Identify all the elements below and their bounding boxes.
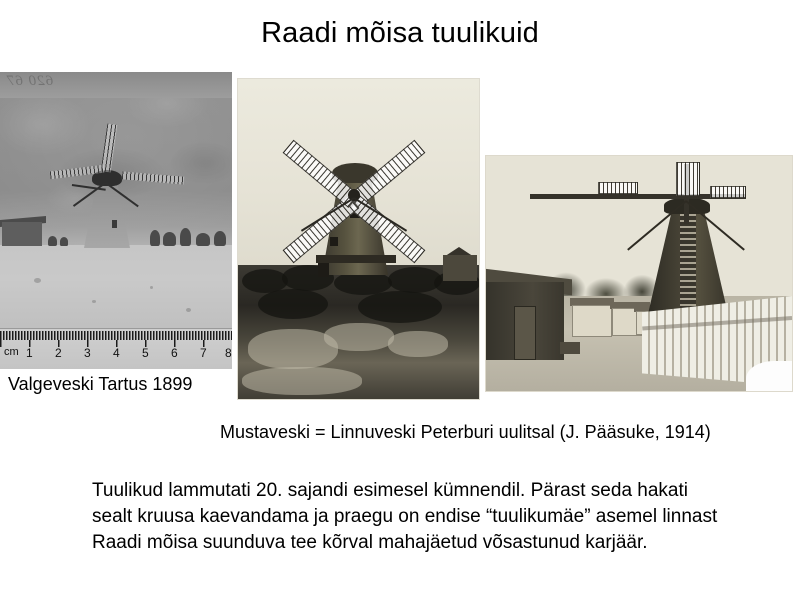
mustaveski-bush (258, 289, 328, 319)
mustaveski-outbuilding (443, 255, 477, 281)
street-cottage (572, 305, 612, 337)
body-line: sealt kruusa kaevandama ja praegu on end… (92, 504, 752, 530)
street-mill-ladder (680, 214, 696, 314)
mustaveski-bush (358, 291, 442, 323)
body-line: Raadi mõisa suunduva tee kõrval mahajäet… (92, 530, 752, 556)
ruler-tick-label: 8 (225, 346, 232, 360)
mustaveski-gravel-patch (324, 323, 394, 351)
ruler-minor-ticks (0, 331, 232, 340)
ruler-tick-label: 6 (171, 346, 178, 360)
negative-ground-speck (186, 308, 191, 312)
ruler-tick-label: 5 (142, 346, 149, 360)
negative-tree (60, 237, 68, 246)
negative-ground-speck (34, 278, 41, 283)
caption-mustaveski: Mustaveski = Linnuveski Peterburi uulits… (220, 420, 711, 444)
mustaveski-mill-door (318, 263, 329, 277)
negative-tree (163, 232, 176, 246)
street-windmill-photo[interactable] (485, 155, 793, 392)
body-line: Tuulikud lammutati 20. sajandi esimesel … (92, 478, 752, 504)
mustaveski-photo[interactable] (237, 78, 480, 400)
negative-tree (150, 230, 160, 246)
body-paragraph: Tuulikud lammutati 20. sajandi esimesel … (92, 478, 752, 556)
negative-mill-window (112, 220, 117, 228)
negative-tree (180, 228, 191, 246)
ruler-number-row: 1 2 3 4 5 6 7 8 (0, 346, 232, 366)
negative-ground-speck (150, 286, 153, 289)
ruler-tick-label: 1 (26, 346, 33, 360)
ruler-tick-label: 4 (113, 346, 120, 360)
street-mill-sail-lattice (598, 182, 638, 194)
ruler-tick-label: 7 (200, 346, 207, 360)
street-mill-sail-lattice (710, 186, 746, 198)
slide-canvas: Raadi mõisa tuulikuid 620 67 (0, 0, 800, 600)
page-title: Raadi mõisa tuulikuid (0, 16, 800, 50)
negative-tree (196, 233, 210, 246)
valgeveski-negative-photo[interactable]: 620 67 cm 1 (0, 72, 232, 369)
mustaveski-gravel-patch (242, 367, 362, 395)
mustaveski-mill-window (330, 237, 338, 246)
negative-tree (48, 236, 57, 246)
negative-ground-speck (92, 300, 96, 303)
negative-snow-field (0, 245, 232, 331)
negative-ruler: cm 1 2 3 4 5 6 7 8 (0, 328, 232, 369)
negative-handwriting-label: 620 67 (6, 73, 53, 90)
ruler-tick-label: 2 (55, 346, 62, 360)
caption-valgeveski: Valgeveski Tartus 1899 (8, 372, 192, 396)
negative-tree (214, 231, 226, 246)
photo-corner-fold (746, 361, 792, 391)
street-barn-door (514, 306, 536, 360)
street-cart (560, 342, 580, 354)
mustaveski-gravel-patch (388, 331, 448, 357)
ruler-tick-label: 3 (84, 346, 91, 360)
mustaveski-mill-gallery (316, 255, 396, 263)
negative-barn (2, 222, 42, 246)
street-mill-sail-lattice (676, 162, 700, 196)
